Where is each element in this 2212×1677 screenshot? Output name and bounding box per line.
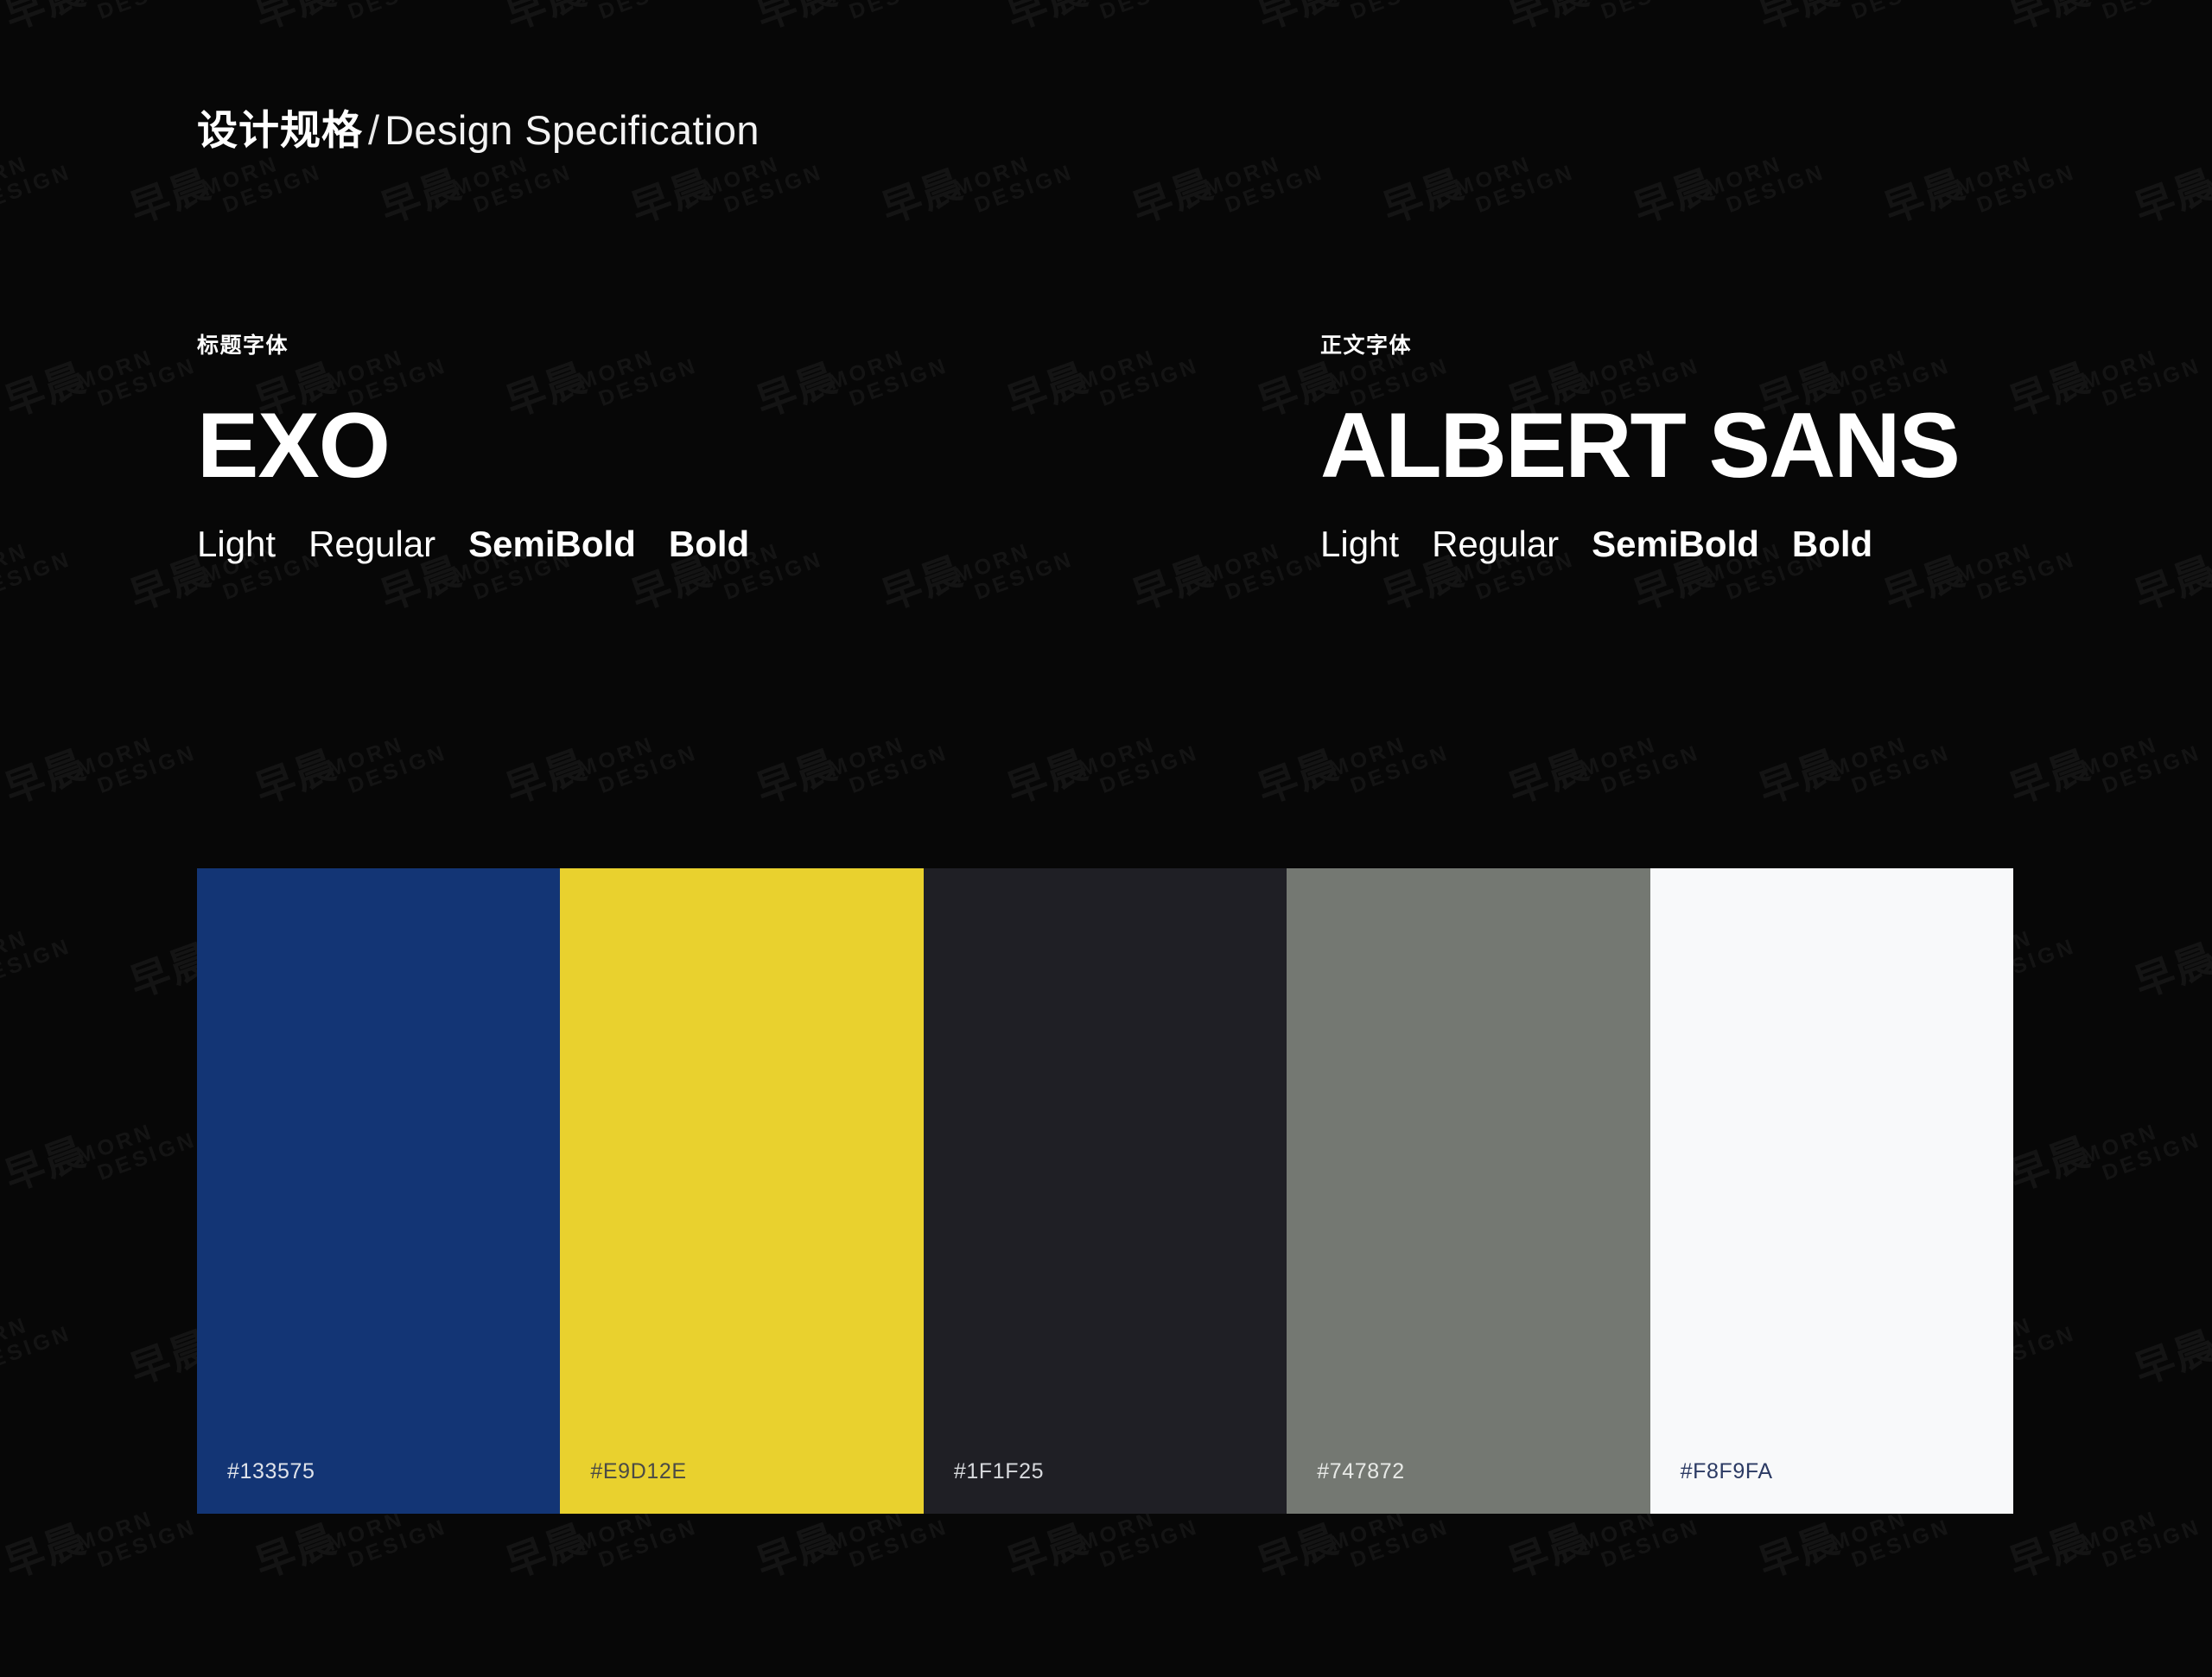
heading-font-specimen: EXO [197,397,1320,493]
heading-font-label: 标题字体 [197,333,1320,359]
typography-column-body-font: 正文字体 ALBERT SANS Light Regular SemiBold … [1320,333,2013,567]
weight-regular: Regular [308,523,435,566]
weight-semibold: SemiBold [468,523,636,566]
color-swatch[interactable]: #F8F9FA [1650,868,2013,1514]
page-header: 设计规格/Design Specification [197,105,760,156]
weight-semibold: SemiBold [1592,523,1759,566]
typography-section: 标题字体 EXO Light Regular SemiBold Bold 正文字… [197,333,2013,567]
color-swatch-hex-label: #E9D12E [590,1458,686,1484]
page-title-cn: 设计规格 [197,107,363,153]
color-swatch-hex-label: #747872 [1317,1458,1405,1484]
typography-column-heading-font: 标题字体 EXO Light Regular SemiBold Bold [197,333,1320,567]
page-title-separator: / [363,107,385,153]
page-content: 设计规格/Design Specification 标题字体 EXO Light… [0,0,2212,1677]
color-swatch[interactable]: #747872 [1287,868,1649,1514]
page-title: 设计规格/Design Specification [197,105,760,156]
weight-light: Light [1320,523,1399,566]
heading-font-weights: Light Regular SemiBold Bold [197,523,1320,566]
color-swatch[interactable]: #1F1F25 [924,868,1287,1514]
body-font-specimen: ALBERT SANS [1320,397,2013,493]
color-swatch-hex-label: #1F1F25 [954,1458,1044,1484]
body-font-label: 正文字体 [1320,333,2013,359]
page-title-en: Design Specification [385,107,760,153]
color-swatch[interactable]: #E9D12E [560,868,923,1514]
color-swatch-hex-label: #F8F9FA [1681,1458,1773,1484]
color-palette: #133575#E9D12E#1F1F25#747872#F8F9FA [197,868,2013,1514]
weight-light: Light [197,523,276,566]
weight-bold: Bold [669,523,749,566]
body-font-weights: Light Regular SemiBold Bold [1320,523,2013,566]
weight-bold: Bold [1792,523,1872,566]
weight-regular: Regular [1432,523,1559,566]
color-swatch-hex-label: #133575 [227,1458,315,1484]
color-swatch[interactable]: #133575 [197,868,560,1514]
design-specification-page: 早晨MORNDESIGN早晨MORNDESIGN早晨MORNDESIGN早晨MO… [0,0,2212,1677]
